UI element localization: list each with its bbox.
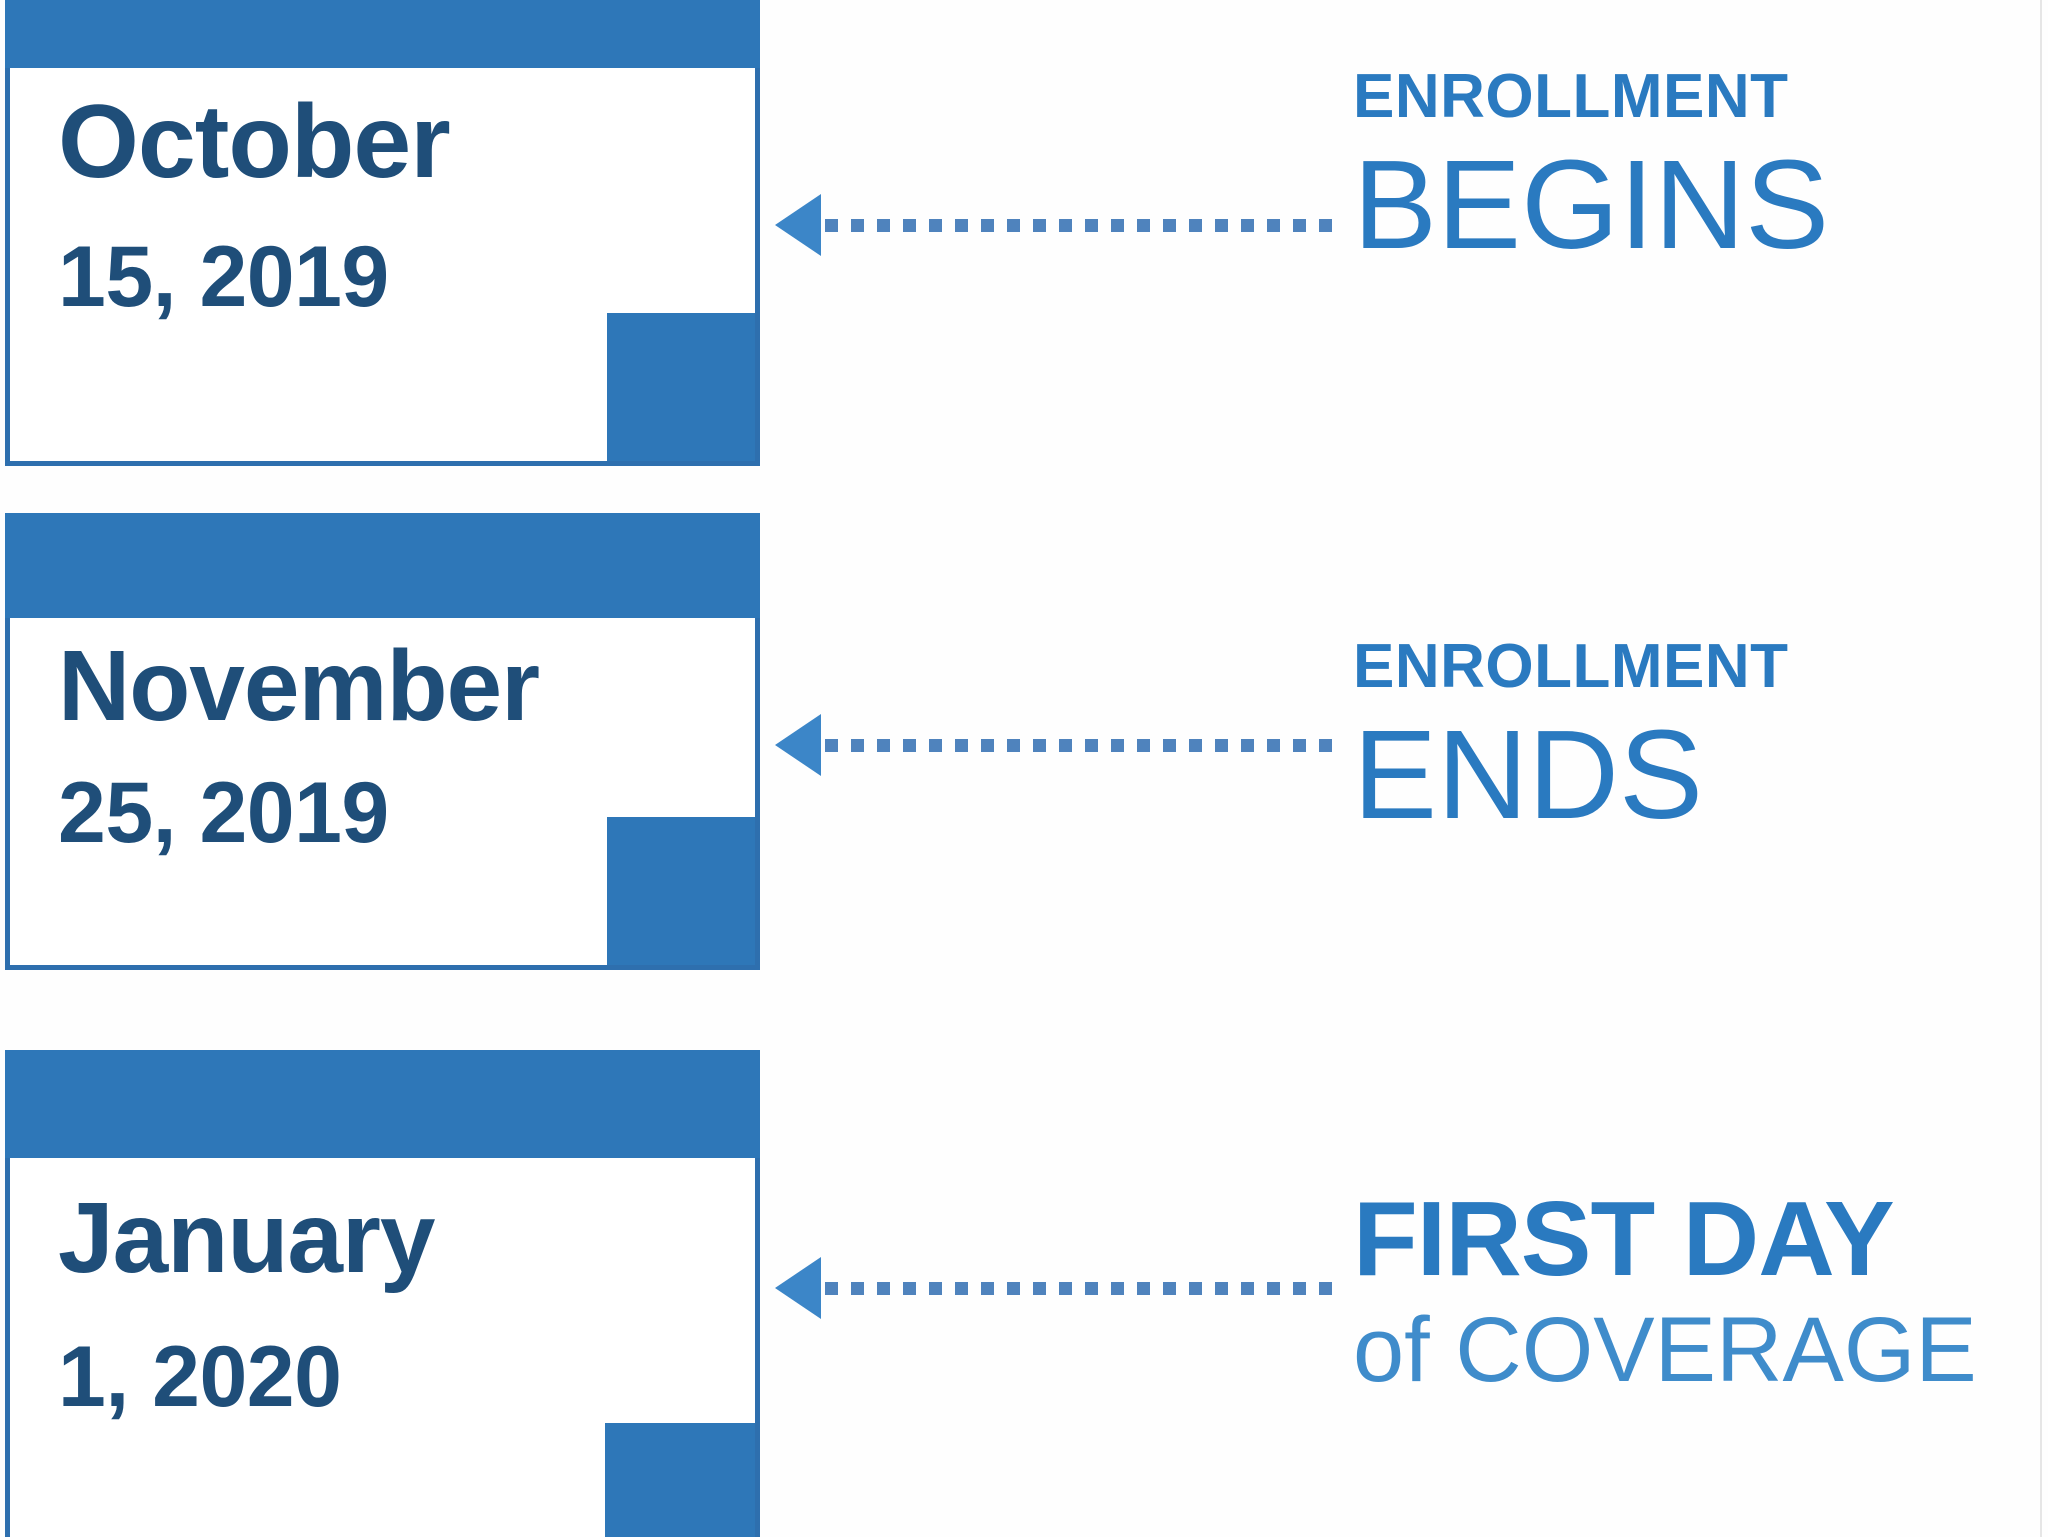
dotted-line-icon — [825, 1282, 1335, 1295]
calendar-card-header-bar — [5, 513, 760, 618]
calendar-card-november: November 25, 2019 — [5, 513, 760, 970]
calendar-card-text: January 1, 2020 — [10, 1158, 755, 1420]
caption-enrollment-begins: ENROLLMENT BEGINS — [1353, 66, 1829, 268]
connector-arrow-november — [775, 715, 1335, 775]
calendar-month-label: November — [58, 636, 755, 736]
calendar-card-october: October 15, 2019 — [5, 0, 760, 466]
connector-arrow-january — [775, 1258, 1335, 1318]
calendar-card-header-bar — [5, 1050, 760, 1158]
left-arrow-icon — [775, 194, 821, 256]
page-fold-corner-icon — [607, 313, 755, 461]
caption-main-label: ENDS — [1353, 712, 1789, 838]
calendar-month-label: January — [58, 1188, 755, 1288]
calendar-card-january: January 1, 2020 — [5, 1050, 760, 1537]
calendar-date-label: 25, 2019 — [58, 770, 755, 856]
calendar-month-label: October — [58, 90, 755, 194]
caption-sub-label: of COVERAGE — [1353, 1304, 1977, 1396]
calendar-card-body: November 25, 2019 — [5, 618, 760, 970]
caption-main-label: FIRST DAY — [1353, 1186, 1977, 1292]
dotted-line-icon — [825, 219, 1335, 232]
calendar-card-header-bar — [5, 0, 760, 68]
dotted-line-icon — [825, 739, 1335, 752]
enrollment-timeline-graphic: October 15, 2019 ENROLLMENT BEGINS Novem… — [0, 0, 2048, 1537]
caption-kicker-label: ENROLLMENT — [1353, 66, 1829, 128]
calendar-card-text: November 25, 2019 — [10, 618, 755, 856]
calendar-card-body: January 1, 2020 — [5, 1158, 760, 1537]
caption-enrollment-ends: ENROLLMENT ENDS — [1353, 636, 1789, 838]
caption-first-day-of-coverage: FIRST DAY of COVERAGE — [1353, 1186, 1977, 1396]
caption-main-label: BEGINS — [1353, 142, 1829, 268]
right-edge-rule — [2040, 0, 2042, 1537]
left-arrow-icon — [775, 1257, 821, 1319]
page-fold-corner-icon — [605, 1423, 755, 1537]
connector-arrow-october — [775, 195, 1335, 255]
calendar-date-label: 15, 2019 — [58, 234, 755, 320]
calendar-card-body: October 15, 2019 — [5, 68, 760, 466]
left-arrow-icon — [775, 714, 821, 776]
caption-kicker-label: ENROLLMENT — [1353, 636, 1789, 698]
calendar-date-label: 1, 2020 — [58, 1334, 755, 1420]
calendar-card-text: October 15, 2019 — [10, 68, 755, 320]
